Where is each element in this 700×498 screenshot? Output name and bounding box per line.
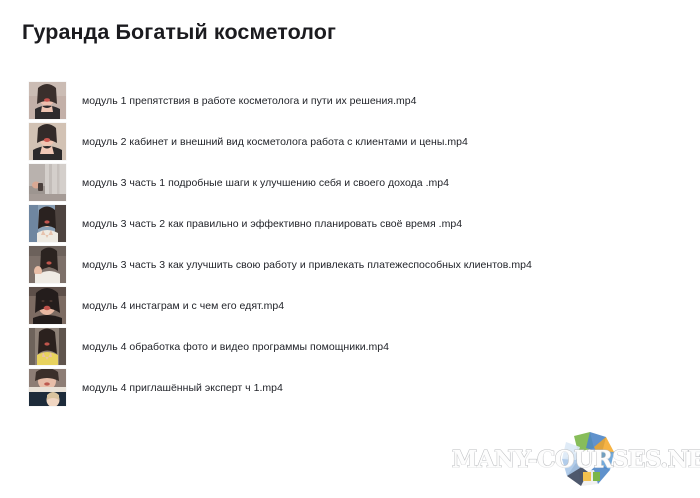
- file-name: модуль 4 инстаграм и с чем его едят.mp4: [82, 300, 284, 312]
- list-item[interactable]: модуль 3 часть 1 подробные шаги к улучше…: [0, 162, 700, 203]
- video-thumbnail[interactable]: [29, 246, 66, 283]
- video-call-split-screen-icon: [29, 369, 66, 406]
- room-interior-grey-icon: [29, 164, 66, 201]
- video-thumbnail[interactable]: [29, 369, 66, 406]
- file-name: модуль 1 препятствия в работе косметолог…: [82, 95, 417, 107]
- file-name: модуль 3 часть 2 как правильно и эффекти…: [82, 218, 462, 230]
- site-watermark: MANY-COURSES.NET: [452, 424, 700, 498]
- portrait-woman-waving-icon: [29, 246, 66, 283]
- portrait-woman-closeup-icon: [29, 287, 66, 324]
- file-list: модуль 1 препятствия в работе косметолог…: [0, 80, 700, 408]
- file-name: модуль 3 часть 1 подробные шаги к улучше…: [82, 177, 449, 189]
- list-item[interactable]: модуль 1 препятствия в работе косметолог…: [0, 80, 700, 121]
- video-thumbnail[interactable]: [29, 82, 66, 119]
- list-item[interactable]: модуль 3 часть 2 как правильно и эффекти…: [0, 203, 700, 244]
- video-thumbnail[interactable]: [29, 328, 66, 365]
- file-name: модуль 2 кабинет и внешний вид косметоло…: [82, 136, 468, 148]
- watermark-text: MANY-COURSES.NET: [452, 446, 700, 473]
- list-item[interactable]: модуль 4 инстаграм и с чем его едят.mp4: [0, 285, 700, 326]
- video-thumbnail[interactable]: [29, 164, 66, 201]
- list-item[interactable]: модуль 2 кабинет и внешний вид косметоло…: [0, 121, 700, 162]
- file-name: модуль 4 приглашённый эксперт ч 1.mp4: [82, 382, 283, 394]
- video-thumbnail[interactable]: [29, 205, 66, 242]
- portrait-woman-yellow-top-icon: [29, 328, 66, 365]
- video-thumbnail[interactable]: [29, 123, 66, 160]
- page-title: Гуранда Богатый косметолог: [22, 20, 336, 45]
- portrait-woman-dark-top-icon: [29, 82, 66, 119]
- list-item[interactable]: модуль 3 часть 3 как улучшить свою работ…: [0, 244, 700, 285]
- list-item[interactable]: модуль 4 приглашённый эксперт ч 1.mp4: [0, 367, 700, 408]
- portrait-woman-white-jacket-icon: [29, 205, 66, 242]
- file-name: модуль 4 обработка фото и видео программ…: [82, 341, 389, 353]
- video-thumbnail[interactable]: [29, 287, 66, 324]
- portrait-woman-black-top-icon: [29, 123, 66, 160]
- video-thumbnail-row[interactable]: модуль 4 обработка фото и видео программ…: [0, 326, 700, 367]
- file-name: модуль 3 часть 3 как улучшить свою работ…: [82, 259, 532, 271]
